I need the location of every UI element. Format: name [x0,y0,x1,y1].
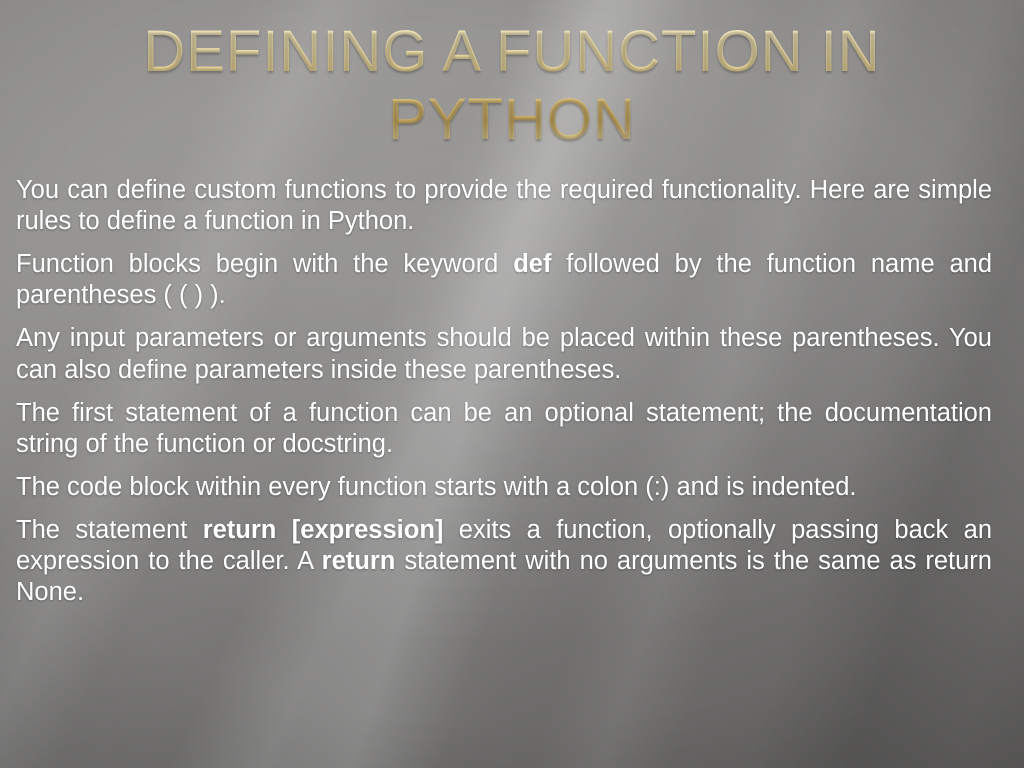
slide: Defining a Function in Python You can de… [0,0,1024,768]
slide-body: You can define custom functions to provi… [16,175,992,608]
body-paragraph-2: Function blocks begin with the keyword d… [16,249,992,311]
page-title: Defining a Function in Python [40,18,984,155]
keyword-return-expression: return [expression] [203,516,444,544]
paragraph-4-text: The first statement of a function can be… [16,399,992,458]
body-paragraph-3: Any input parameters or arguments should… [16,323,992,385]
body-paragraph-5: The code block within every function sta… [16,472,992,503]
body-paragraph-4: The first statement of a function can be… [16,398,992,460]
body-paragraph-6: The statement return [expression] exits … [16,515,992,608]
paragraph-6-text-a: The statement [16,516,203,544]
keyword-def: def [513,250,551,278]
keyword-return: return [322,547,396,575]
paragraph-3-text: Any input parameters or arguments should… [16,324,992,383]
paragraph-2-text-a: Function blocks begin with the keyword [16,250,513,278]
paragraph-1-text: You can define custom functions to provi… [16,176,992,235]
body-paragraph-1: You can define custom functions to provi… [16,175,992,237]
paragraph-5-text: The code block within every function sta… [16,473,857,501]
